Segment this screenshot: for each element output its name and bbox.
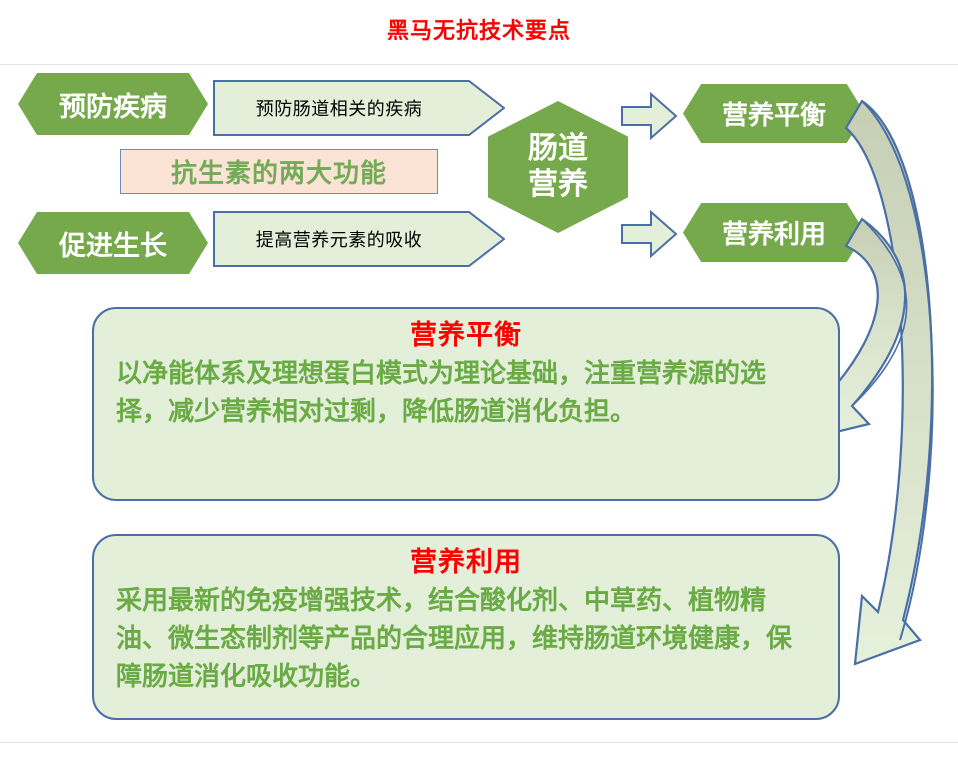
node-intestinal-nutrition[interactable]: 肠道 营养 (488, 101, 628, 233)
top-divider (0, 64, 958, 65)
callout-antibiotic-functions[interactable]: 抗生素的两大功能 (120, 149, 438, 194)
card-nutrition-utilization[interactable]: 营养利用 采用最新的免疫增强技术，结合酸化剂、中草药、植物精油、微生态制剂等产品… (92, 534, 840, 720)
card-nutrition-utilization-title: 营养利用 (116, 546, 816, 580)
block-arrow-right-icon-bottom (620, 210, 678, 258)
curve-guide-outer-2 (852, 219, 907, 406)
card-nutrition-balance[interactable]: 营养平衡 以净能体系及理想蛋白模式为理论基础，注重营养源的选择，减少营养相对过剩… (92, 307, 840, 501)
node-nutrition-balance-label: 营养平衡 (722, 95, 826, 132)
card-nutrition-balance-body: 以净能体系及理想蛋白模式为理论基础，注重营养源的选择，减少营养相对过剩，降低肠道… (116, 355, 816, 431)
node-nutrition-utilization-label: 营养利用 (722, 214, 826, 251)
banner-prevent-intestinal-disease-label: 预防肠道相关的疾病 (219, 80, 459, 136)
card-nutrition-utilization-body: 采用最新的免疫增强技术，结合酸化剂、中草药、植物精油、微生态制剂等产品的合理应用… (116, 582, 816, 696)
banner-improve-nutrient-absorption-label: 提高营养元素的吸收 (219, 211, 459, 267)
card-nutrition-balance-title: 营养平衡 (116, 319, 816, 353)
node-prevent-disease-label: 预防疾病 (59, 85, 167, 124)
node-intestinal-nutrition-line2: 营养 (528, 167, 588, 203)
slide-canvas: 黑马无抗技术要点 预防疾病 促进生长 预防肠道相关的疾病 提高营养元素的吸收 抗… (0, 0, 958, 757)
curved-arrow-icon-balance-to-lower (846, 101, 932, 664)
node-nutrition-utilization[interactable]: 营养利用 (683, 203, 865, 262)
curve-guide-outer-1 (862, 101, 933, 640)
banner-improve-nutrient-absorption[interactable]: 提高营养元素的吸收 (213, 211, 505, 267)
bottom-divider (0, 742, 958, 743)
node-intestinal-nutrition-line1: 肠道 (528, 131, 588, 167)
node-promote-growth-label: 促进生长 (59, 224, 167, 263)
node-nutrition-balance[interactable]: 营养平衡 (683, 84, 865, 143)
callout-antibiotic-functions-label: 抗生素的两大功能 (171, 153, 387, 190)
page-title: 黑马无抗技术要点 (0, 18, 958, 46)
node-prevent-disease[interactable]: 预防疾病 (18, 73, 208, 135)
block-arrow-right-icon-top (620, 92, 678, 140)
node-promote-growth[interactable]: 促进生长 (18, 212, 208, 274)
banner-prevent-intestinal-disease[interactable]: 预防肠道相关的疾病 (213, 80, 505, 136)
